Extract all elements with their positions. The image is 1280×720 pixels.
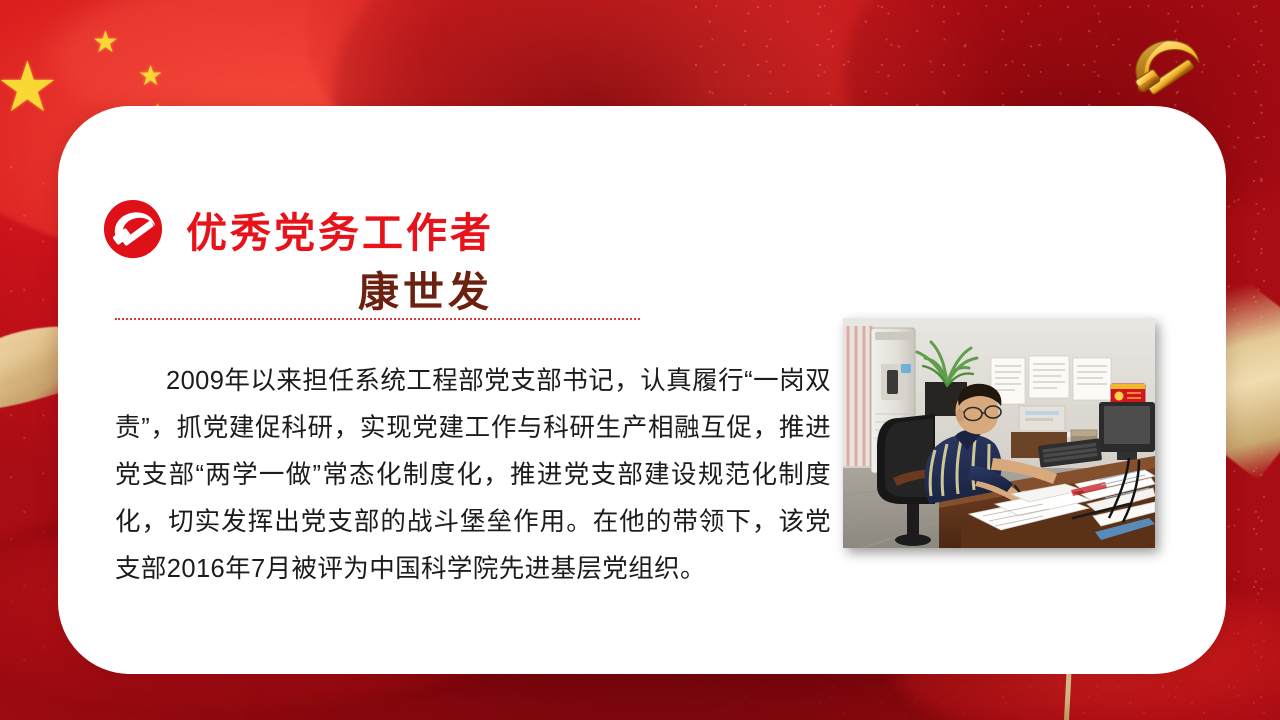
flag-star-large-icon: ★ — [0, 52, 59, 122]
page-title: 优秀党务工作者 — [186, 199, 494, 259]
party-emblem-gold-icon — [1120, 26, 1212, 104]
presentation-slide: ★ ★ ★ ★ ★ — [0, 0, 1280, 720]
content-card: 优秀党务工作者 康世发 2009年以来担任系统工程部党支部书记，认真履行“一岗双… — [58, 106, 1226, 674]
body-paragraph: 2009年以来担任系统工程部党支部书记，认真履行“一岗双责”，抓党建促科研，实现… — [115, 358, 831, 593]
party-emblem-icon — [102, 198, 164, 260]
person-photo — [843, 318, 1155, 548]
flag-star-small-icon: ★ — [92, 28, 119, 58]
flag-star-small-icon: ★ — [138, 62, 163, 90]
title-row: 优秀党务工作者 — [102, 198, 494, 260]
person-name: 康世发 — [358, 258, 493, 318]
dotted-divider — [115, 318, 640, 320]
